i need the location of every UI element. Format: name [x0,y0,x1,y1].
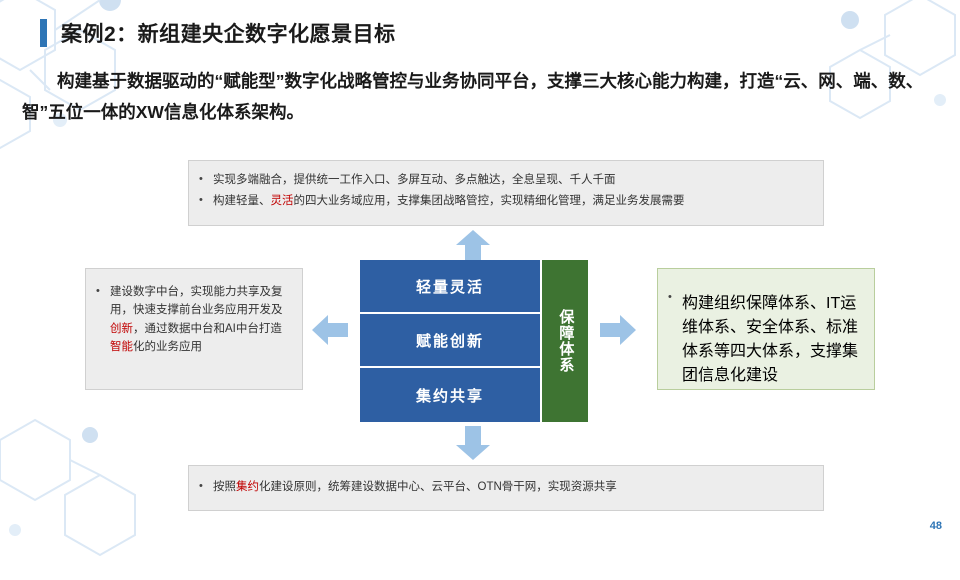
support-system-label: 保障体系 [556,309,575,373]
support-system-column: 保障体系 [542,260,588,422]
capability-cell-empower: 赋能创新 [360,314,540,368]
page-title: 案例2：新组建央企数字化愿景目标 [40,18,396,48]
right-bullet: • 构建组织保障体系、IT运维体系、安全体系、标准体系等四大体系，支撑集团信息化… [668,289,860,385]
top-bullet-1: • 实现多端融合，提供统一工作入口、多屏互动、多点触达，全息呈现、千人千面 [199,171,811,189]
left-bullet: • 建设数字中台，实现能力共享及复用，快速支撑前台业务应用开发及创新，通过数据中… [96,283,288,357]
top-info-box: • 实现多端融合，提供统一工作入口、多屏互动、多点触达，全息呈现、千人千面 • … [188,160,824,226]
right-info-box: • 构建组织保障体系、IT运维体系、安全体系、标准体系等四大体系，支撑集团信息化… [657,268,875,390]
top-bullet-2: • 构建轻量、灵活的四大业务域应用，支撑集团战略管控，实现精细化管理，满足业务发… [199,192,811,210]
page-number: 48 [930,520,942,532]
arrow-up-icon [456,230,490,260]
top-bullet-1-text: 实现多端融合，提供统一工作入口、多屏互动、多点触达，全息呈现、千人千面 [213,171,811,189]
bottom-bullet: • 按照集约化建设原则，统筹建设数据中心、云平台、OTN骨干网，实现资源共享 [199,478,811,496]
arrow-left-icon [312,315,348,345]
title-text: 案例2：新组建央企数字化愿景目标 [61,18,396,48]
bottom-bullet-text: 按照集约化建设原则，统筹建设数据中心、云平台、OTN骨干网，实现资源共享 [213,478,811,496]
right-bullet-text: 构建组织保障体系、IT运维体系、安全体系、标准体系等四大体系，支撑集团信息化建设 [682,289,860,385]
bullet-dot-icon: • [199,478,213,496]
arrow-down-icon [456,426,490,460]
arrow-right-icon [600,315,636,345]
capability-cell-intensive: 集约共享 [360,368,540,422]
capability-cell-lightweight: 轻量灵活 [360,260,540,314]
left-info-box: • 建设数字中台，实现能力共享及复用，快速支撑前台业务应用开发及创新，通过数据中… [85,268,303,390]
lead-paragraph: 构建基于数据驱动的“赋能型”数字化战略管控与业务协同平台，支撑三大核心能力构建，… [22,66,940,127]
diagram-canvas: • 实现多端融合，提供统一工作入口、多屏互动、多点触达，全息呈现、千人千面 • … [0,150,960,520]
title-accent-bar [40,19,47,47]
bullet-dot-icon: • [668,289,682,307]
bullet-dot-icon: • [96,283,110,301]
left-bullet-text: 建设数字中台，实现能力共享及复用，快速支撑前台业务应用开发及创新，通过数据中台和… [110,283,288,357]
bullet-dot-icon: • [199,192,213,210]
bullet-dot-icon: • [199,171,213,189]
center-capability-stack: 轻量灵活 赋能创新 集约共享 [360,260,540,422]
top-bullet-2-text: 构建轻量、灵活的四大业务域应用，支撑集团战略管控，实现精细化管理，满足业务发展需… [213,192,811,210]
bottom-info-box: • 按照集约化建设原则，统筹建设数据中心、云平台、OTN骨干网，实现资源共享 [188,465,824,511]
